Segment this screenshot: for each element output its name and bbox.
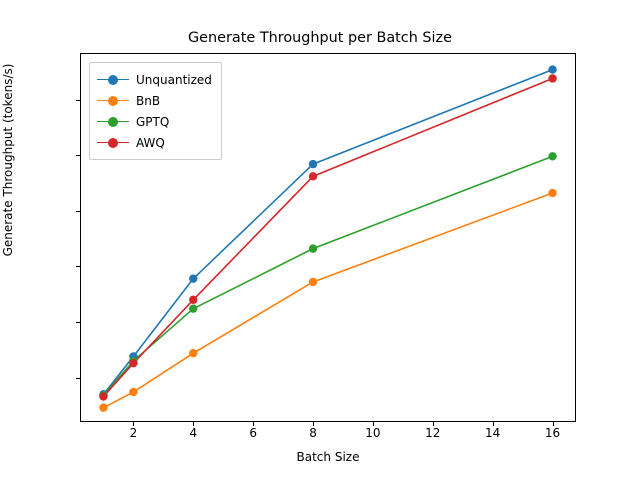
data-point-marker [548,152,556,160]
page-title: Generate Throughput per Batch Size [0,30,640,46]
data-point-marker [309,244,317,252]
x-tick-label: 16 [533,426,573,440]
x-axis-label: Batch Size [80,450,576,464]
data-point-marker [99,392,107,400]
data-point-marker [129,388,137,396]
legend-marker-icon [97,115,129,129]
legend-item-awq[interactable]: AWQ [97,132,212,153]
legend-label: AWQ [136,136,165,150]
x-tick-label: 2 [113,426,153,440]
legend-marker-icon [97,73,129,87]
data-point-marker [548,189,556,197]
series-line-bnb [103,193,552,408]
data-point-marker [309,172,317,180]
x-tick-label: 10 [353,426,393,440]
data-point-marker [189,274,197,282]
legend-label: BnB [136,94,160,108]
data-point-marker [189,296,197,304]
legend-item-gptq[interactable]: GPTQ [97,111,212,132]
legend: UnquantizedBnBGPTQAWQ [89,62,222,160]
data-point-marker [189,349,197,357]
data-point-marker [309,278,317,286]
legend-item-bnb[interactable]: BnB [97,90,212,111]
x-tick-label: 6 [233,426,273,440]
x-tick-label: 14 [473,426,513,440]
x-tick-label: 8 [293,426,333,440]
data-point-marker [129,359,137,367]
y-axis-label: Generate Throughput (tokens/s) [1,0,15,360]
legend-label: GPTQ [136,115,169,129]
matplotlib-figure: Generate Throughput per Batch Size Gener… [0,0,640,480]
legend-marker-icon [97,94,129,108]
data-point-marker [99,403,107,411]
legend-item-unquantized[interactable]: Unquantized [97,69,212,90]
legend-label: Unquantized [136,73,212,87]
x-tick-label: 12 [413,426,453,440]
data-point-marker [548,74,556,82]
data-point-marker [309,160,317,168]
data-point-marker [189,304,197,312]
legend-marker-icon [97,136,129,150]
x-tick-label: 4 [173,426,213,440]
data-point-marker [548,65,556,73]
